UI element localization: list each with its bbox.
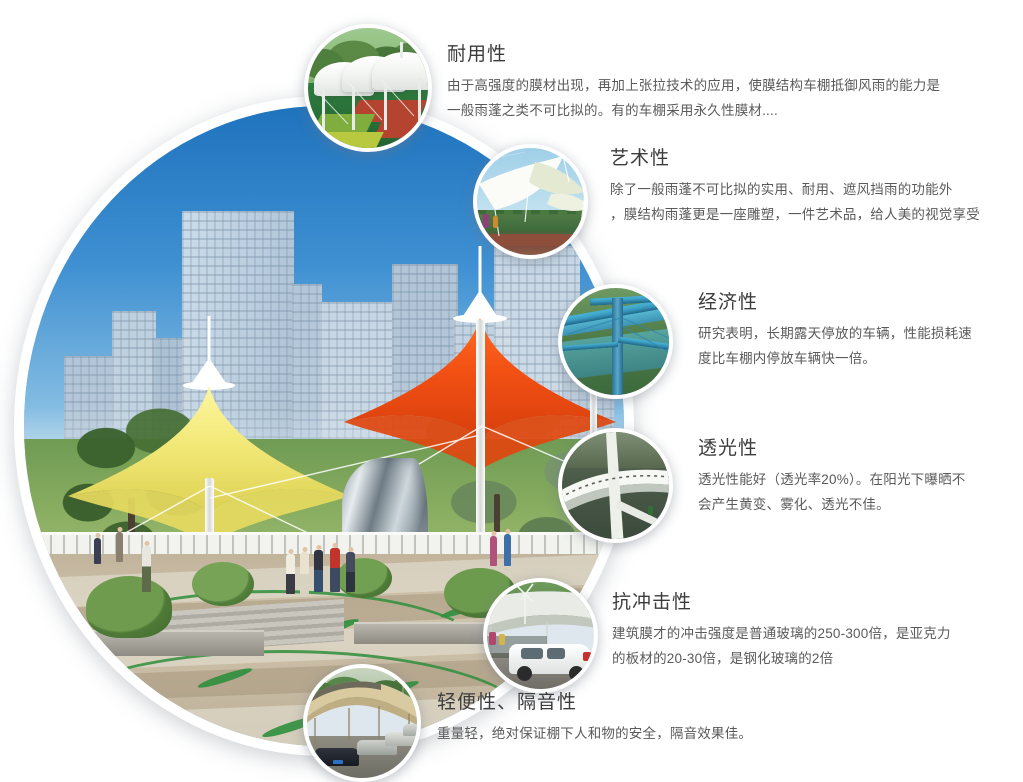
feature-text-durability: 耐用性 由于高强度的膜材出现，再加上张拉技术的应用，使膜结构车棚抵御风雨的能力是… xyxy=(447,44,977,124)
feature-body: 研究表明，长期露天停放的车辆，性能损耗速 度比车棚内停放车辆快一倍。 xyxy=(698,322,998,372)
plaza-shrub xyxy=(336,558,392,598)
canopy-spire xyxy=(208,316,211,360)
feature-text-impact-resistance: 抗冲击性 建筑膜才的冲击强度是普通玻璃的250-300倍，是亚克力 的板材的20… xyxy=(612,592,1002,672)
feature-body: 重量轻，绝对保证棚下人和物的安全，隔音效果佳。 xyxy=(437,722,787,747)
pedestrian xyxy=(314,550,323,592)
feature-title: 透光性 xyxy=(698,438,998,461)
thumb-artistry[interactable] xyxy=(473,144,588,259)
parked-car xyxy=(403,724,421,736)
pedestrian xyxy=(490,536,497,566)
feature-text-artistry: 艺术性 除了一般雨蓬不可比拟的实用、耐用、遮风挡雨的功能外 ，膜结构雨蓬更是一座… xyxy=(610,148,1015,228)
pedestrian xyxy=(330,548,340,592)
feature-title: 抗冲击性 xyxy=(612,592,1002,615)
plaza-shrub xyxy=(86,576,172,638)
feature-text-translucency: 透光性 透光性能好（透光率20%）。在阳光下曝晒不 会产生黄变、雾化、透光不佳。 xyxy=(698,438,998,518)
pedestrian xyxy=(94,538,101,564)
pedestrian xyxy=(300,552,309,594)
thumb-economy[interactable] xyxy=(558,284,673,399)
feature-title: 艺术性 xyxy=(610,148,1015,171)
feature-body: 除了一般雨蓬不可比拟的实用、耐用、遮风挡雨的功能外 ，膜结构雨蓬更是一座雕塑，一… xyxy=(610,178,1015,228)
thumb-durability[interactable] xyxy=(304,24,432,152)
feature-text-economy: 经济性 研究表明，长期露天停放的车辆，性能损耗速 度比车棚内停放车辆快一倍。 xyxy=(698,292,998,372)
feature-title: 耐用性 xyxy=(447,44,977,67)
pedestrian xyxy=(116,532,123,562)
thumb-impact-resistance[interactable] xyxy=(483,578,598,693)
pedestrian xyxy=(286,554,295,594)
thumb-lightweight-soundproof[interactable] xyxy=(303,664,421,782)
pedestrian xyxy=(346,552,355,592)
feature-body: 建筑膜才的冲击强度是普通玻璃的250-300倍，是亚克力 的板材的20-30倍，… xyxy=(612,622,1002,672)
canopy-cap xyxy=(463,290,497,316)
plaza-shrub xyxy=(192,562,254,606)
feature-body: 由于高强度的膜材出现，再加上张拉技术的应用，使膜结构车棚抵御风雨的能力是 一般雨… xyxy=(447,74,977,124)
feature-text-lightweight-soundproof: 轻便性、隔音性 重量轻，绝对保证棚下人和物的安全，隔音效果佳。 xyxy=(437,692,787,747)
feature-title: 轻便性、隔音性 xyxy=(437,692,787,715)
canopy-cap xyxy=(192,358,226,383)
thumb-translucency[interactable] xyxy=(558,428,673,543)
feature-body: 透光性能好（透光率20%）。在阳光下曝晒不 会产生黄变、雾化、透光不佳。 xyxy=(698,468,998,518)
feature-title: 经济性 xyxy=(698,292,998,315)
pedestrian xyxy=(142,546,151,592)
infographic-page: 耐用性 由于高强度的膜材出现，再加上张拉技术的应用，使膜结构车棚抵御风雨的能力是… xyxy=(0,0,1023,782)
pedestrian xyxy=(504,534,511,566)
